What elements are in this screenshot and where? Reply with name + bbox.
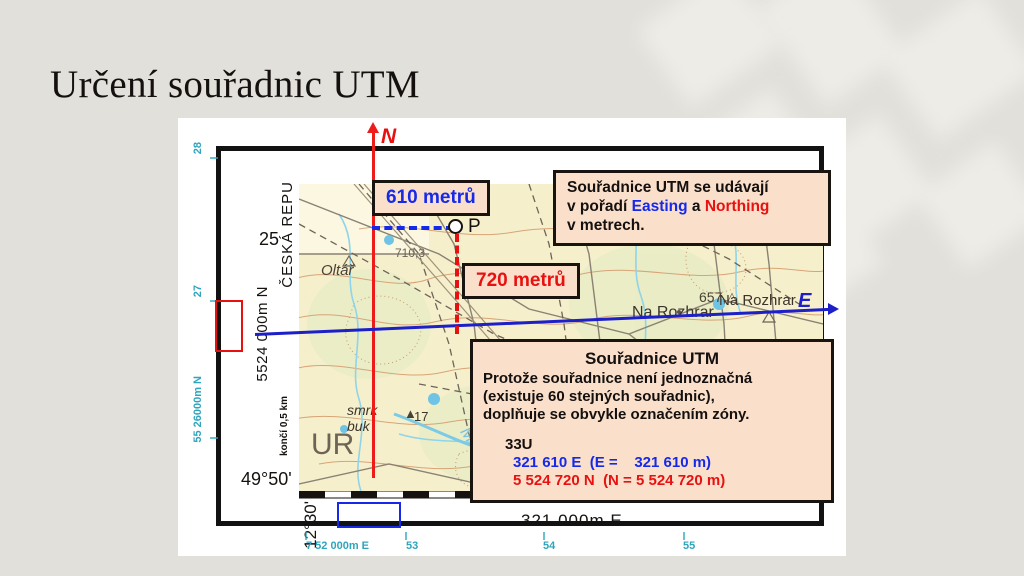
info-box-zone: Souřadnice UTM Protože souřadnice není j… (470, 339, 834, 503)
grid-label-teal-27: 27 (192, 285, 204, 297)
callout-easting-offset-text: 610 metrů (386, 187, 476, 208)
zone-box-line3: doplňuje se obvykle označením zóny. (483, 406, 821, 424)
grid-ticks-bottom (298, 530, 718, 542)
callout-northing-offset-text: 720 metrů (476, 270, 566, 291)
highlight-northing-digits (215, 300, 243, 352)
info-box-line2-prefix: v pořadí (567, 198, 632, 215)
zone-box-northing: 5 524 720 N (N = 5 524 720 m) (483, 472, 821, 490)
map-note-konci: končí 0,5 km (279, 396, 290, 456)
zone-box-zone-code: 33U (483, 436, 821, 454)
info-box-utm-order: Souřadnice UTM se udávají v pořadí Easti… (553, 170, 831, 246)
info-box-northing-word: Northing (705, 198, 770, 215)
callout-northing-offset: 720 metrů (462, 263, 580, 299)
north-axis-label: N (381, 125, 396, 149)
page-title: Určení souřadnic UTM (50, 62, 420, 107)
grid-label-left-25: 25 (259, 229, 279, 250)
zone-box-easting: 321 610 E (E = 321 610 m) (483, 454, 821, 472)
grid-label-teal-26000mN: 55 26000m N (192, 376, 204, 443)
easting-offset-dashed-line (372, 226, 454, 230)
grid-label-left-lat: 49°50' (241, 469, 292, 490)
info-box-line2-conj: a (688, 198, 705, 215)
east-arrow-head-icon (828, 303, 839, 315)
north-arrow-head-icon (367, 122, 379, 133)
highlight-easting-digits (337, 502, 401, 528)
point-p-marker (448, 219, 463, 234)
info-box-line3: v metrech. (567, 217, 819, 236)
zone-box-line2: (existuje 60 stejných souřadnic), (483, 388, 821, 406)
info-box-line2: v pořadí Easting a Northing (567, 198, 819, 217)
map-label-country: ČESKÁ REPU (279, 181, 296, 288)
info-box-easting-word: Easting (632, 198, 688, 215)
east-axis-label: E (798, 290, 811, 313)
info-box-line1: Souřadnice UTM se udávají (567, 179, 819, 198)
zone-box-line1: Protože souřadnice není jednoznačná (483, 370, 821, 388)
grid-label-bottom-easting: 321 000m E (521, 511, 623, 531)
zone-box-heading: Souřadnice UTM (483, 349, 821, 370)
point-p-label: P (468, 216, 481, 238)
callout-easting-offset: 610 metrů (372, 180, 490, 216)
northing-offset-dashed-line (455, 234, 459, 334)
grid-label-teal-28: 28 (192, 142, 204, 154)
